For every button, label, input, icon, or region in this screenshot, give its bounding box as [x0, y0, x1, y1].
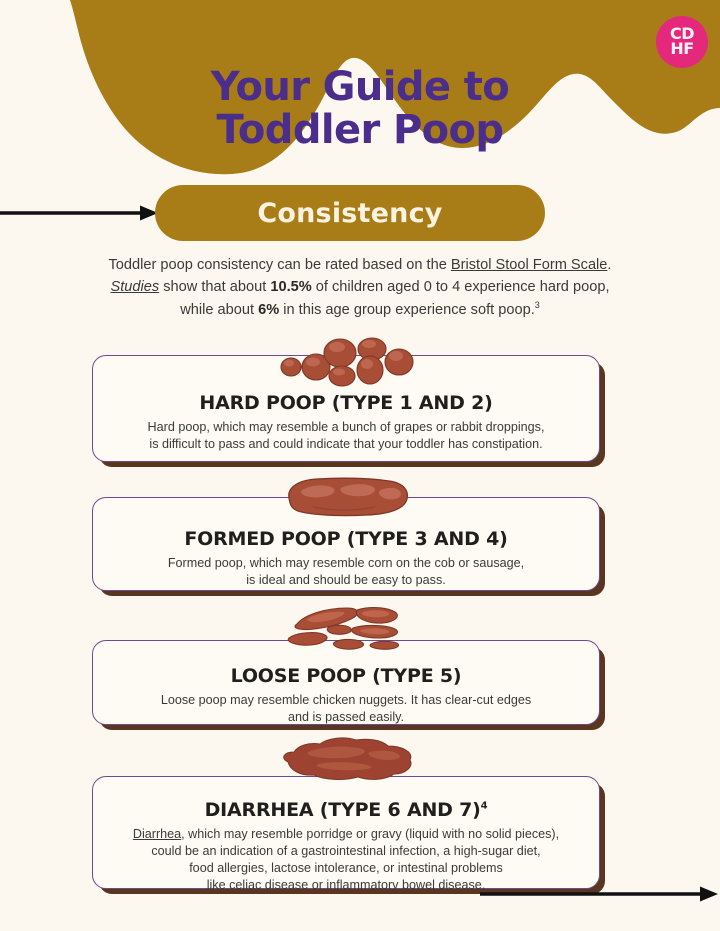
bristol-stool-form-scale-link[interactable]: Bristol Stool Form Scale [451, 257, 608, 273]
diarrhea-link[interactable]: Diarrhea [133, 827, 181, 841]
title-line-1: Your Guide to [211, 64, 509, 110]
intro-line1-b: . [607, 257, 611, 273]
card-loose-poop-title: LOOSE POOP (TYPE 5) [93, 665, 599, 687]
title-line-2: Toddler Poop [0, 109, 720, 152]
card-loose-poop[interactable]: LOOSE POOP (TYPE 5) Loose poop may resem… [92, 640, 600, 725]
card-formed-poop[interactable]: FORMED POOP (TYPE 3 AND 4) Formed poop, … [92, 497, 600, 591]
card-diarrhea-body-line3: food allergies, lactose intolerance, or … [189, 861, 503, 875]
card-hard-poop-title: HARD POOP (TYPE 1 AND 2) [93, 392, 599, 414]
section-pill-label: Consistency [257, 198, 442, 229]
studies-link[interactable]: Studies [111, 279, 160, 295]
card-formed-poop-body: Formed poop, which may resemble corn on … [93, 555, 599, 589]
card-diarrhea-body-line4: like celiac disease or inflammatory bowe… [207, 878, 486, 892]
arrow-right-icon-left-side [0, 203, 160, 223]
footnote-marker-3: 3 [535, 300, 540, 310]
infographic-page: CD HF Your Guide to Toddler Poop Consist… [0, 0, 720, 931]
intro-line1-a: Toddler poop consistency can be rated ba… [109, 257, 451, 273]
card-loose-body-line1: Loose poop may resemble chicken nuggets.… [161, 693, 531, 707]
card-diarrhea-title-text: DIARRHEA (TYPE 6 AND 7) [205, 799, 481, 821]
card-diarrhea-body-line1: , which may resemble porridge or gravy (… [181, 827, 559, 841]
footnote-marker-4: 4 [481, 801, 488, 812]
card-hard-poop[interactable]: HARD POOP (TYPE 1 AND 2) Hard poop, whic… [92, 355, 600, 462]
intro-line3-b: in this age group experience soft poop. [279, 302, 535, 318]
card-hard-body-line1: Hard poop, which may resemble a bunch of… [148, 420, 545, 434]
intro-line3-a: while about [180, 302, 258, 318]
card-formed-body-line2: is ideal and should be easy to pass. [246, 573, 446, 587]
card-diarrhea[interactable]: DIARRHEA (TYPE 6 AND 7)4 Diarrhea, which… [92, 776, 600, 889]
cdhf-logo[interactable]: CD HF [656, 16, 708, 68]
card-formed-body-line1: Formed poop, which may resemble corn on … [168, 556, 524, 570]
card-loose-poop-body: Loose poop may resemble chicken nuggets.… [93, 692, 599, 726]
page-title: Your Guide to Toddler Poop [0, 66, 720, 152]
card-loose-body-line2: and is passed easily. [288, 710, 404, 724]
intro-line2-a: show that about [159, 279, 270, 295]
logo-line-2: HF [670, 42, 693, 57]
card-diarrhea-title: DIARRHEA (TYPE 6 AND 7)4 [93, 799, 599, 821]
section-pill-consistency[interactable]: Consistency [155, 185, 545, 241]
arrow-right-icon-bottom [480, 884, 720, 904]
stat-hard-poop-percent: 10.5% [270, 279, 311, 295]
card-formed-poop-title: FORMED POOP (TYPE 3 AND 4) [93, 528, 599, 550]
stat-soft-poop-percent: 6% [258, 302, 279, 318]
card-hard-poop-body: Hard poop, which may resemble a bunch of… [93, 419, 599, 453]
card-hard-body-line2: is difficult to pass and could indicate … [149, 437, 542, 451]
intro-paragraph: Toddler poop consistency can be rated ba… [36, 255, 684, 322]
intro-line2-b: of children aged 0 to 4 experience hard … [312, 279, 610, 295]
card-diarrhea-body-line2: could be an indication of a gastrointest… [151, 844, 540, 858]
